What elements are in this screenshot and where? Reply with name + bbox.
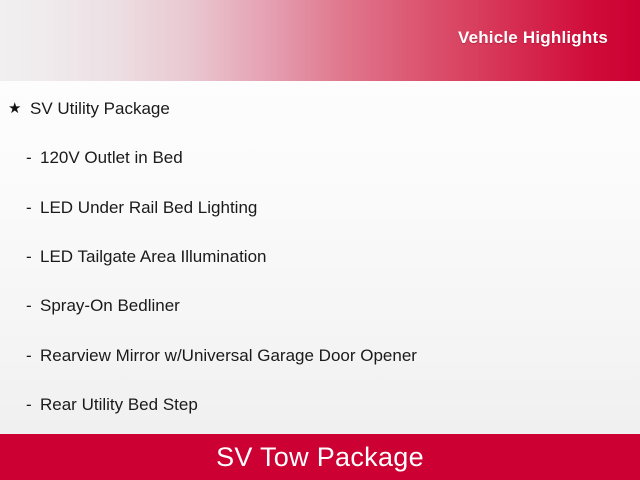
dash-bullet-icon: - bbox=[26, 199, 38, 216]
list-item: - 120V Outlet in Bed bbox=[0, 145, 640, 169]
list-item-label: LED Under Rail Bed Lighting bbox=[40, 199, 257, 216]
list-item-label: Spray-On Bedliner bbox=[40, 297, 180, 314]
list-item-label: LED Tailgate Area Illumination bbox=[40, 248, 267, 265]
star-bullet-icon: ★ bbox=[8, 101, 28, 116]
list-item: - LED Tailgate Area Illumination bbox=[0, 244, 640, 268]
vehicle-highlights-slide: Vehicle Highlights ★ SV Utility Package … bbox=[0, 0, 640, 480]
header-banner: Vehicle Highlights bbox=[0, 0, 640, 81]
list-item-label: SV Utility Package bbox=[30, 100, 170, 117]
list-item: - Rear Utility Bed Step bbox=[0, 392, 640, 416]
list-item: - LED Under Rail Bed Lighting bbox=[0, 195, 640, 219]
list-item: ★ SV Utility Package bbox=[0, 96, 640, 120]
list-item-label: Rear Utility Bed Step bbox=[40, 396, 198, 413]
page-title: Vehicle Highlights bbox=[458, 28, 608, 48]
dash-bullet-icon: - bbox=[26, 248, 38, 265]
list-item: - Spray-On Bedliner bbox=[0, 293, 640, 317]
footer-title: SV Tow Package bbox=[216, 442, 424, 473]
footer-banner: SV Tow Package bbox=[0, 434, 640, 480]
dash-bullet-icon: - bbox=[26, 297, 38, 314]
dash-bullet-icon: - bbox=[26, 396, 38, 413]
list-item-label: Rearview Mirror w/Universal Garage Door … bbox=[40, 347, 417, 364]
dash-bullet-icon: - bbox=[26, 149, 38, 166]
list-item-label: 120V Outlet in Bed bbox=[40, 149, 183, 166]
highlights-content-area: ★ SV Utility Package - 120V Outlet in Be… bbox=[0, 81, 640, 434]
dash-bullet-icon: - bbox=[26, 347, 38, 364]
list-item: - Rearview Mirror w/Universal Garage Doo… bbox=[0, 343, 640, 367]
